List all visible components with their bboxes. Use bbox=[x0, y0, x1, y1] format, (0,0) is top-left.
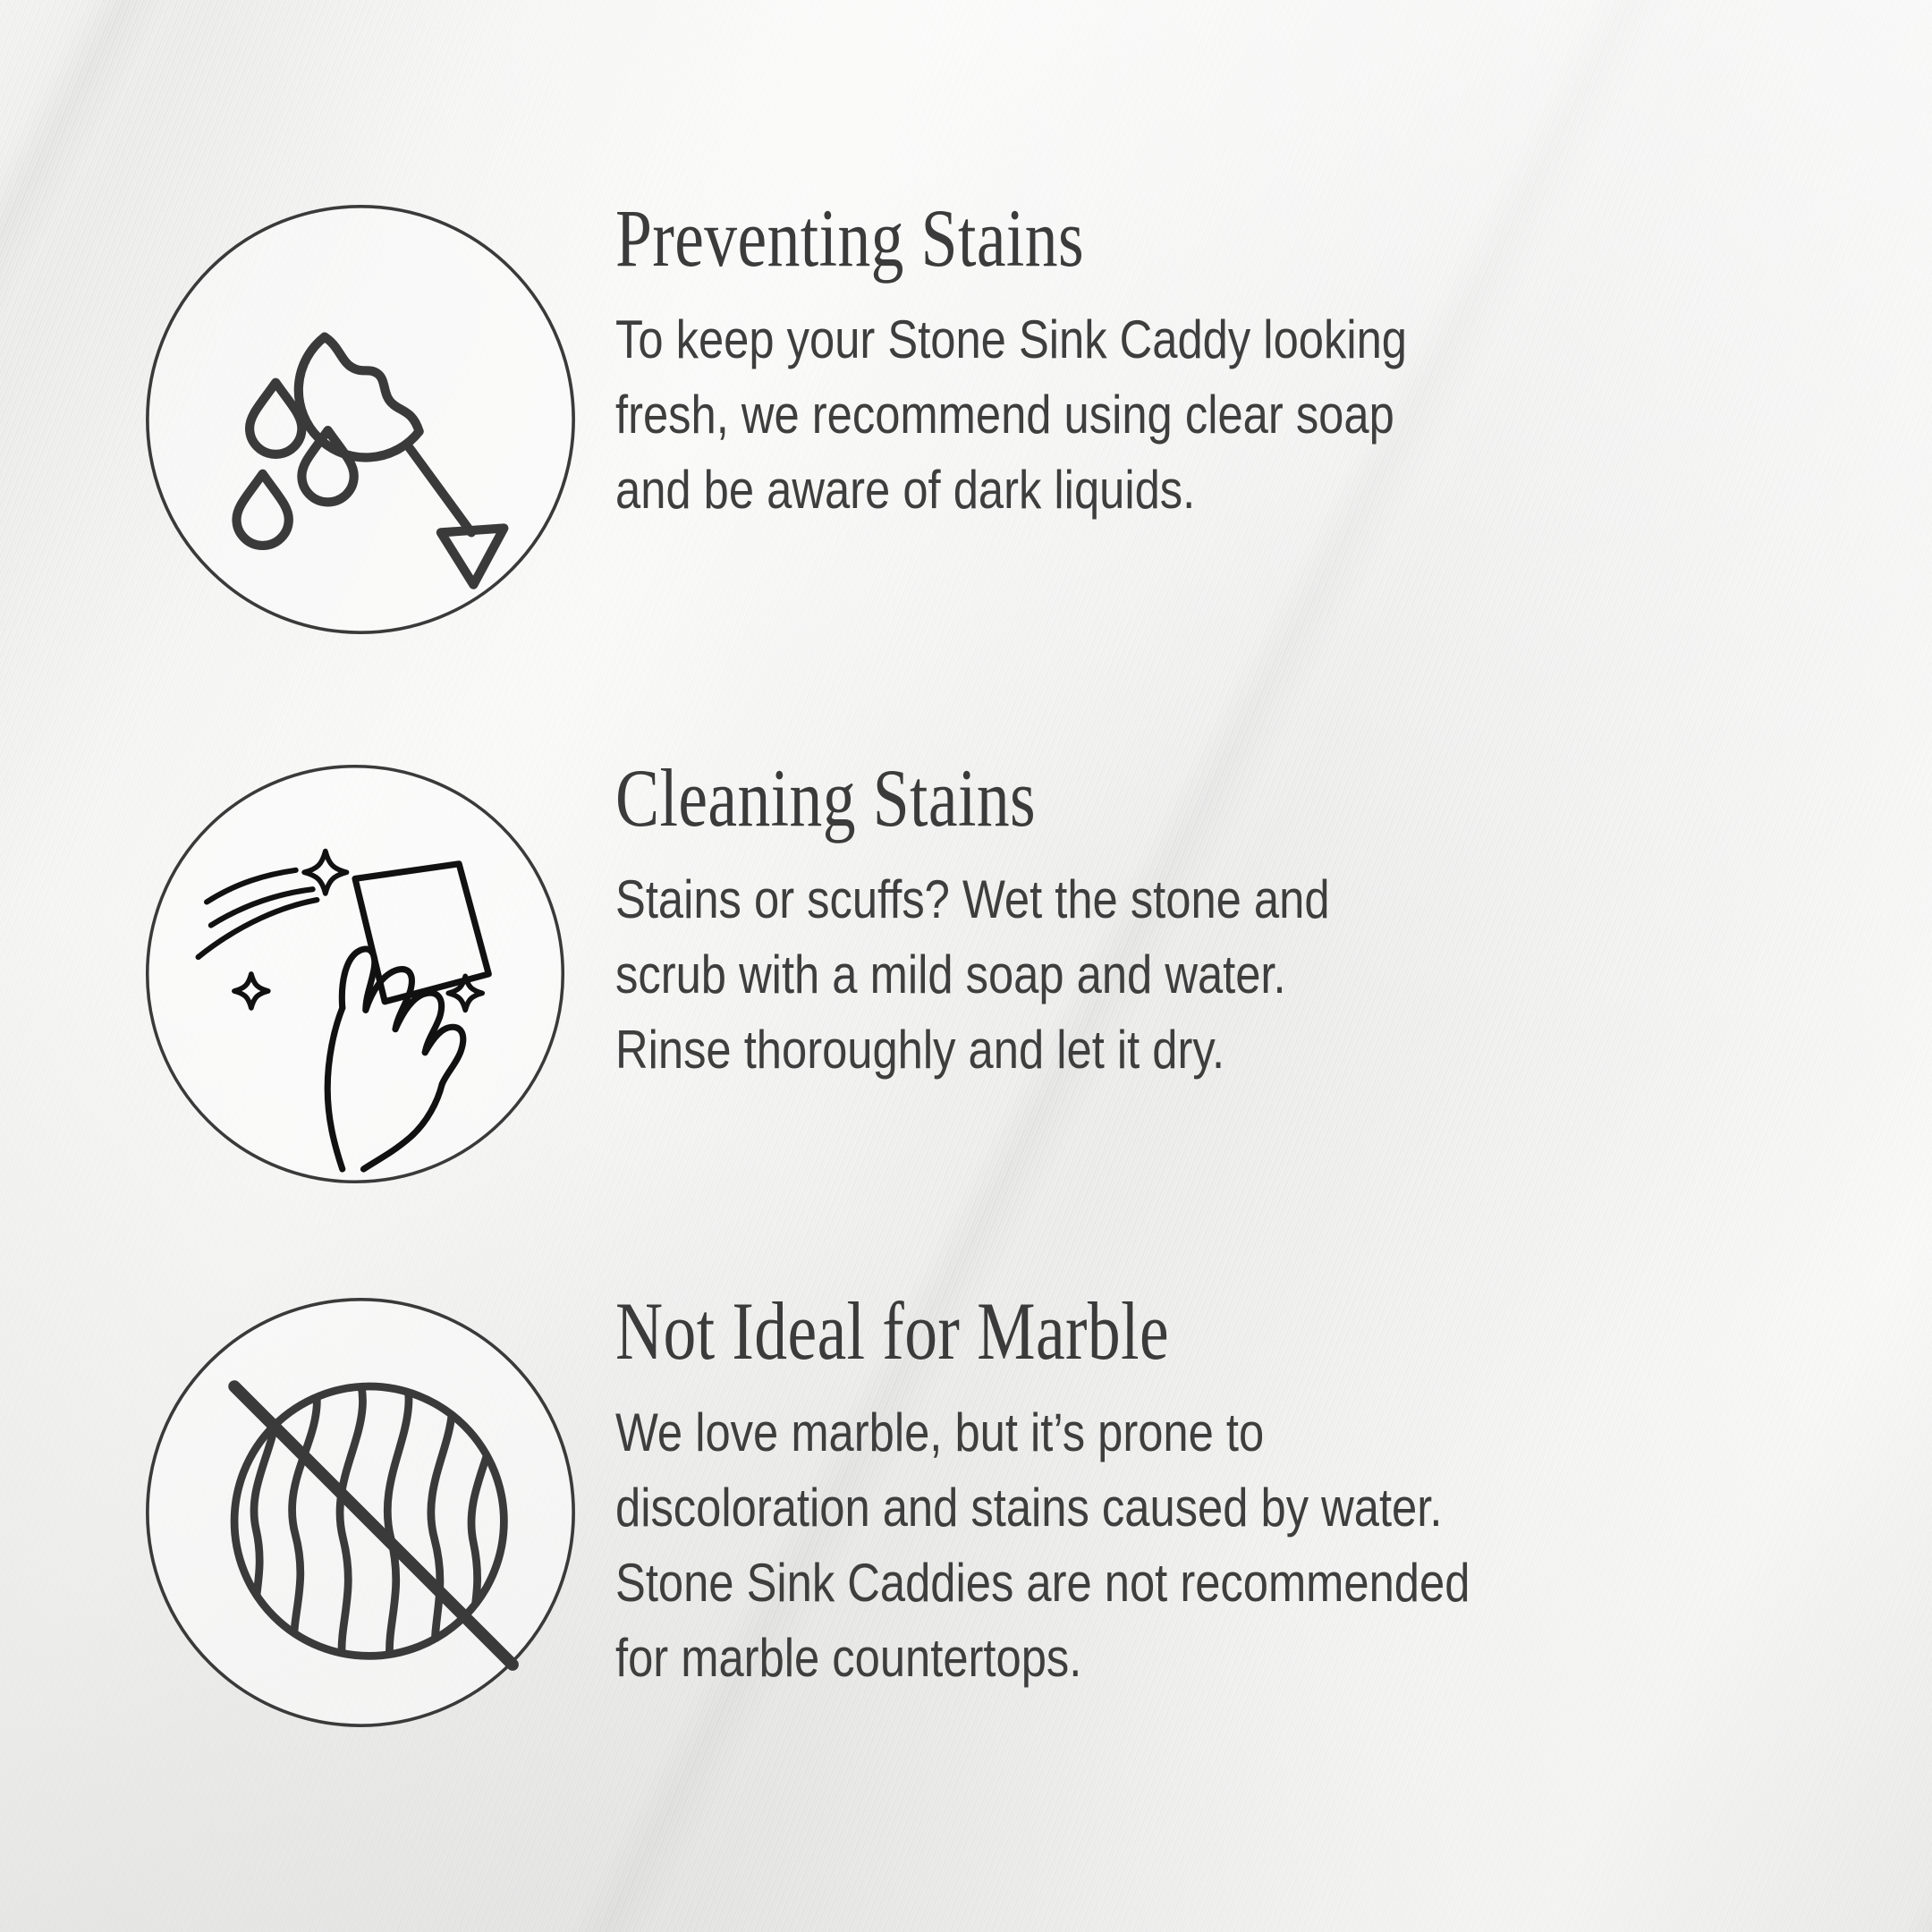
icon-container-3 bbox=[143, 1286, 590, 1730]
icon-container-1 bbox=[143, 193, 590, 637]
section-heading-cleaning-stains: Cleaning Stains bbox=[615, 757, 1605, 839]
section-preventing-stains: Preventing Stains To keep your Stone Sin… bbox=[143, 193, 1851, 637]
section-heading-preventing-stains: Preventing Stains bbox=[615, 197, 1605, 279]
section-body-preventing-stains: To keep your Stone Sink Caddy looking fr… bbox=[615, 302, 1848, 528]
text-block-3: Not Ideal for Marble We love marble, but… bbox=[590, 1286, 1851, 1696]
body-line: Stone Sink Caddies are not recommended bbox=[615, 1546, 1868, 1621]
body-line: scrub with a mild soap and water. bbox=[615, 937, 1848, 1013]
section-body-not-ideal-for-marble: We love marble, but it’s prone to discol… bbox=[615, 1395, 1868, 1696]
body-line: We love marble, but it’s prone to bbox=[615, 1395, 1868, 1470]
hand-wiping-with-cloth-sparkle-icon bbox=[143, 762, 567, 1186]
icon-container-2 bbox=[143, 753, 590, 1186]
text-block-2: Cleaning Stains Stains or scuffs? Wet th… bbox=[590, 753, 1851, 1088]
section-cleaning-stains: Cleaning Stains Stains or scuffs? Wet th… bbox=[143, 753, 1851, 1186]
section-heading-not-ideal-for-marble: Not Ideal for Marble bbox=[615, 1290, 1605, 1372]
text-block-1: Preventing Stains To keep your Stone Sin… bbox=[590, 193, 1851, 528]
body-line: Rinse thoroughly and let it dry. bbox=[615, 1013, 1848, 1088]
tilted-wine-glass-with-drops-icon bbox=[143, 202, 578, 637]
marble-pattern-crossed-out-icon bbox=[143, 1295, 578, 1730]
body-line: To keep your Stone Sink Caddy looking bbox=[615, 302, 1848, 377]
section-not-ideal-for-marble: Not Ideal for Marble We love marble, but… bbox=[143, 1286, 1851, 1730]
body-line: Stains or scuffs? Wet the stone and bbox=[615, 862, 1848, 937]
content-area: Preventing Stains To keep your Stone Sin… bbox=[0, 0, 1932, 1932]
body-line: fresh, we recommend using clear soap bbox=[615, 377, 1848, 453]
body-line: for marble countertops. bbox=[615, 1621, 1868, 1696]
body-line: discoloration and stains caused by water… bbox=[615, 1470, 1868, 1546]
body-line: and be aware of dark liquids. bbox=[615, 453, 1848, 528]
infographic-canvas: Preventing Stains To keep your Stone Sin… bbox=[0, 0, 1932, 1932]
section-body-cleaning-stains: Stains or scuffs? Wet the stone and scru… bbox=[615, 862, 1848, 1088]
